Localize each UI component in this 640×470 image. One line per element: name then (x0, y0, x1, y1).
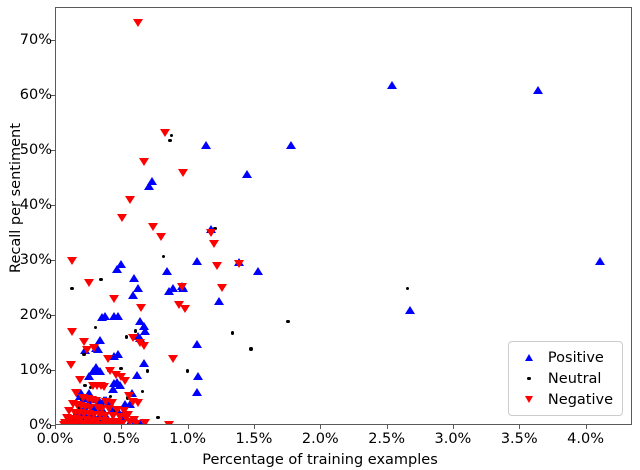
data-point-positive (192, 257, 202, 265)
data-point-positive (286, 141, 296, 149)
data-point-positive (253, 267, 263, 275)
data-point-positive (192, 340, 202, 348)
data-point-negative (177, 283, 187, 291)
data-point-neutral (249, 347, 252, 350)
plot-area: Positive Neutral Negative (55, 7, 632, 425)
data-point-positive (95, 367, 105, 375)
legend-label-negative: Negative (542, 392, 613, 408)
data-point-negative (79, 338, 89, 346)
legend-label-positive: Positive (542, 350, 604, 366)
data-point-negative (139, 158, 149, 166)
data-point-neutral (83, 384, 86, 387)
data-point-neutral (99, 278, 102, 281)
data-point-negative (178, 169, 188, 177)
x-tick-label: 3.5% (501, 431, 538, 447)
data-point-positive (405, 306, 415, 314)
legend-marker-negative (516, 396, 542, 403)
x-tick (387, 425, 388, 429)
data-point-negative (136, 304, 146, 312)
data-point-neutral (168, 139, 171, 142)
data-point-positive (533, 86, 543, 94)
data-point-positive (113, 312, 123, 320)
data-point-negative (156, 233, 166, 241)
data-point-neutral (156, 416, 159, 419)
y-tick-label: 10% (20, 362, 52, 378)
data-point-neutral (170, 134, 173, 137)
data-point-neutral (141, 390, 144, 393)
data-point-neutral (406, 287, 409, 290)
y-tick-label: 20% (20, 307, 52, 323)
data-point-positive (139, 359, 149, 367)
data-point-positive (108, 385, 118, 393)
data-point-neutral (286, 320, 289, 323)
data-point-negative (82, 346, 92, 354)
legend-label-neutral: Neutral (542, 371, 602, 387)
x-tick-label: 4.0% (567, 431, 604, 447)
legend-marker-positive (516, 354, 542, 361)
data-point-positive (129, 274, 139, 282)
data-point-negative (66, 361, 76, 369)
data-point-neutral (146, 369, 149, 372)
data-point-negative (59, 421, 69, 425)
x-tick (121, 425, 122, 429)
x-tick (55, 425, 56, 429)
data-point-neutral (70, 287, 73, 290)
legend-marker-neutral (516, 377, 542, 380)
x-tick-label: 1.5% (236, 431, 273, 447)
data-point-negative (160, 129, 170, 137)
data-point-positive (162, 267, 172, 275)
data-point-positive (112, 265, 122, 273)
x-tick (254, 425, 255, 429)
x-tick (519, 425, 520, 429)
x-tick-label: 3.0% (435, 431, 472, 447)
data-point-neutral (134, 329, 137, 332)
legend-item-positive: Positive (516, 347, 613, 368)
data-point-negative (67, 328, 77, 336)
y-tick-label: 30% (20, 252, 52, 268)
data-point-neutral (94, 326, 97, 329)
data-point-negative (180, 305, 190, 313)
data-point-negative (129, 416, 139, 424)
data-point-negative (164, 421, 174, 425)
data-point-negative (212, 262, 222, 270)
y-axis-title: Recall per sentiment (8, 88, 24, 308)
data-point-positive (97, 313, 107, 321)
data-point-negative (120, 377, 130, 385)
x-tick (320, 425, 321, 429)
x-tick-label: 2.5% (368, 431, 405, 447)
data-point-negative (209, 240, 219, 248)
data-point-negative (84, 279, 94, 287)
data-point-negative (148, 223, 158, 231)
x-tick-label: 0.0% (37, 431, 74, 447)
data-point-neutral (162, 255, 165, 258)
data-point-positive (214, 297, 224, 305)
x-axis-title: Percentage of training examples (0, 452, 640, 468)
x-tick-label: 0.5% (103, 431, 140, 447)
data-point-positive (192, 388, 202, 396)
data-point-neutral (186, 369, 189, 372)
data-point-neutral (119, 367, 122, 370)
legend-item-neutral: Neutral (516, 368, 613, 389)
data-point-positive (201, 141, 211, 149)
data-point-negative (67, 257, 77, 265)
data-point-negative (168, 355, 178, 363)
data-point-negative (103, 355, 113, 363)
x-tick (188, 425, 189, 429)
data-point-negative (139, 342, 149, 350)
y-tick-label: 60% (20, 87, 52, 103)
data-point-neutral (231, 331, 234, 334)
data-point-positive (144, 182, 154, 190)
data-point-positive (164, 287, 174, 295)
data-point-negative (117, 420, 127, 425)
data-point-negative (99, 383, 109, 391)
data-point-negative (133, 19, 143, 27)
y-tick-label: 50% (20, 142, 52, 158)
data-point-negative (125, 196, 135, 204)
data-point-negative (140, 419, 150, 425)
data-point-positive (242, 170, 252, 178)
y-tick-label: 40% (20, 197, 52, 213)
x-tick-label: 1.0% (169, 431, 206, 447)
data-point-negative (109, 295, 119, 303)
y-tick-label: 70% (20, 32, 52, 48)
data-point-positive (128, 291, 138, 299)
legend-item-negative: Negative (516, 389, 613, 410)
data-point-negative (217, 284, 227, 292)
y-tick-label: 0% (29, 417, 52, 433)
data-point-negative (206, 229, 216, 237)
data-point-negative (133, 399, 143, 407)
data-point-positive (193, 372, 203, 380)
data-point-negative (234, 260, 244, 268)
x-tick (586, 425, 587, 429)
data-point-positive (595, 257, 605, 265)
scatter-chart-figure: Positive Neutral Negative 0.0%0.5%1.0%1.… (0, 0, 640, 470)
data-point-negative (75, 376, 85, 384)
chart-legend: Positive Neutral Negative (508, 341, 623, 416)
data-point-positive (387, 81, 397, 89)
data-point-negative (117, 214, 127, 222)
data-point-positive (84, 372, 94, 380)
x-tick (453, 425, 454, 429)
x-tick-label: 2.0% (302, 431, 339, 447)
data-point-positive (132, 371, 142, 379)
